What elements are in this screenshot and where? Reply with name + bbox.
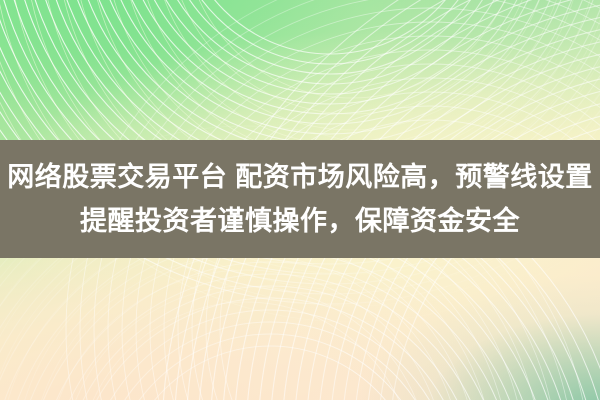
caption-line-2: 提醒投资者谨慎操作，保障资金安全 bbox=[80, 199, 520, 243]
promo-banner: 网络股票交易平台 配资市场风险高，预警线设置 提醒投资者谨慎操作，保障资金安全 bbox=[0, 0, 600, 400]
caption-line-1: 网络股票交易平台 配资市场风险高，预警线设置 bbox=[7, 155, 593, 199]
caption-band: 网络股票交易平台 配资市场风险高，预警线设置 提醒投资者谨慎操作，保障资金安全 bbox=[0, 140, 600, 258]
